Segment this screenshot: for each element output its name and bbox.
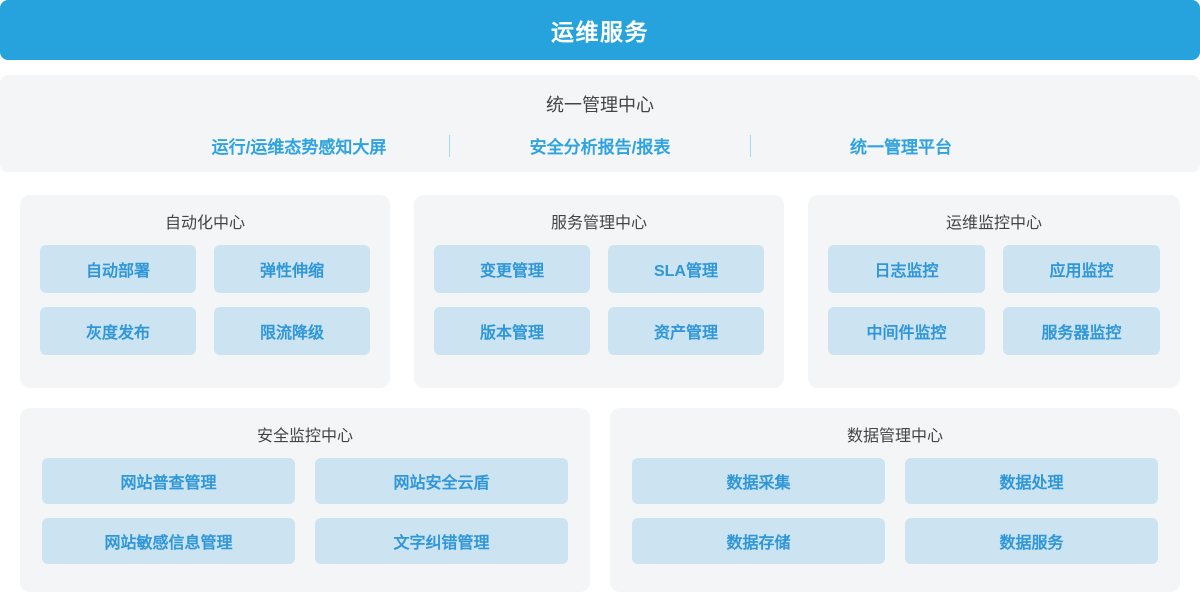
panel-title-service-management-center: 服务管理中心 <box>414 209 784 233</box>
unified-management-center-band: 统一管理中心 运行/运维态势感知大屏 安全分析报告/报表 统一管理平台 <box>0 75 1200 172</box>
tile-rate-limit-degrade[interactable]: 限流降级 <box>214 307 370 355</box>
panel-ops-monitoring-center: 运维监控中心 日志监控 应用监控 中间件监控 服务器监控 <box>808 195 1180 388</box>
tile-data-processing[interactable]: 数据处理 <box>905 458 1158 504</box>
mgmt-link-unified-management-platform[interactable]: 统一管理平台 <box>751 133 1051 158</box>
tile-website-sensitive-info-management[interactable]: 网站敏感信息管理 <box>42 518 295 564</box>
panel-service-management-center: 服务管理中心 变更管理 SLA管理 版本管理 资产管理 <box>414 195 784 388</box>
unified-management-links: 运行/运维态势感知大屏 安全分析报告/报表 统一管理平台 <box>0 133 1200 158</box>
tile-website-security-cloud-shield[interactable]: 网站安全云盾 <box>315 458 568 504</box>
tile-auto-deploy[interactable]: 自动部署 <box>40 245 196 293</box>
tile-grid-security-monitoring-center: 网站普查管理 网站安全云盾 网站敏感信息管理 文字纠错管理 <box>20 458 590 584</box>
architecture-diagram: 运维服务 统一管理中心 运行/运维态势感知大屏 安全分析报告/报表 统一管理平台… <box>0 0 1200 602</box>
tile-data-collection[interactable]: 数据采集 <box>632 458 885 504</box>
tile-gray-release[interactable]: 灰度发布 <box>40 307 196 355</box>
tile-version-management[interactable]: 版本管理 <box>434 307 590 355</box>
panel-data-management-center: 数据管理中心 数据采集 数据处理 数据存储 数据服务 <box>610 408 1180 592</box>
panel-title-ops-monitoring-center: 运维监控中心 <box>808 209 1180 233</box>
panel-title-automation-center: 自动化中心 <box>20 209 390 233</box>
tile-sla-management[interactable]: SLA管理 <box>608 245 764 293</box>
panel-security-monitoring-center: 安全监控中心 网站普查管理 网站安全云盾 网站敏感信息管理 文字纠错管理 <box>20 408 590 592</box>
page-title: 运维服务 <box>551 13 649 47</box>
mgmt-link-security-analysis-report[interactable]: 安全分析报告/报表 <box>450 133 750 158</box>
tile-grid-ops-monitoring-center: 日志监控 应用监控 中间件监控 服务器监控 <box>808 245 1180 375</box>
tile-middleware-monitoring[interactable]: 中间件监控 <box>828 307 985 355</box>
unified-management-center-title: 统一管理中心 <box>546 91 654 117</box>
panel-title-data-management-center: 数据管理中心 <box>610 422 1180 446</box>
tile-application-monitoring[interactable]: 应用监控 <box>1003 245 1160 293</box>
tile-grid-data-management-center: 数据采集 数据处理 数据存储 数据服务 <box>610 458 1180 584</box>
tile-data-service[interactable]: 数据服务 <box>905 518 1158 564</box>
tile-server-monitoring[interactable]: 服务器监控 <box>1003 307 1160 355</box>
tile-asset-management[interactable]: 资产管理 <box>608 307 764 355</box>
tile-data-storage[interactable]: 数据存储 <box>632 518 885 564</box>
panel-title-security-monitoring-center: 安全监控中心 <box>20 422 590 446</box>
tile-log-monitoring[interactable]: 日志监控 <box>828 245 985 293</box>
tile-website-census-management[interactable]: 网站普查管理 <box>42 458 295 504</box>
header-bar: 运维服务 <box>0 0 1200 60</box>
tile-grid-automation-center: 自动部署 弹性伸缩 灰度发布 限流降级 <box>20 245 390 375</box>
tile-elastic-scaling[interactable]: 弹性伸缩 <box>214 245 370 293</box>
tile-text-correction-management[interactable]: 文字纠错管理 <box>315 518 568 564</box>
mgmt-link-situational-awareness-screen[interactable]: 运行/运维态势感知大屏 <box>149 133 449 158</box>
tile-change-management[interactable]: 变更管理 <box>434 245 590 293</box>
tile-grid-service-management-center: 变更管理 SLA管理 版本管理 资产管理 <box>414 245 784 375</box>
panel-automation-center: 自动化中心 自动部署 弹性伸缩 灰度发布 限流降级 <box>20 195 390 388</box>
